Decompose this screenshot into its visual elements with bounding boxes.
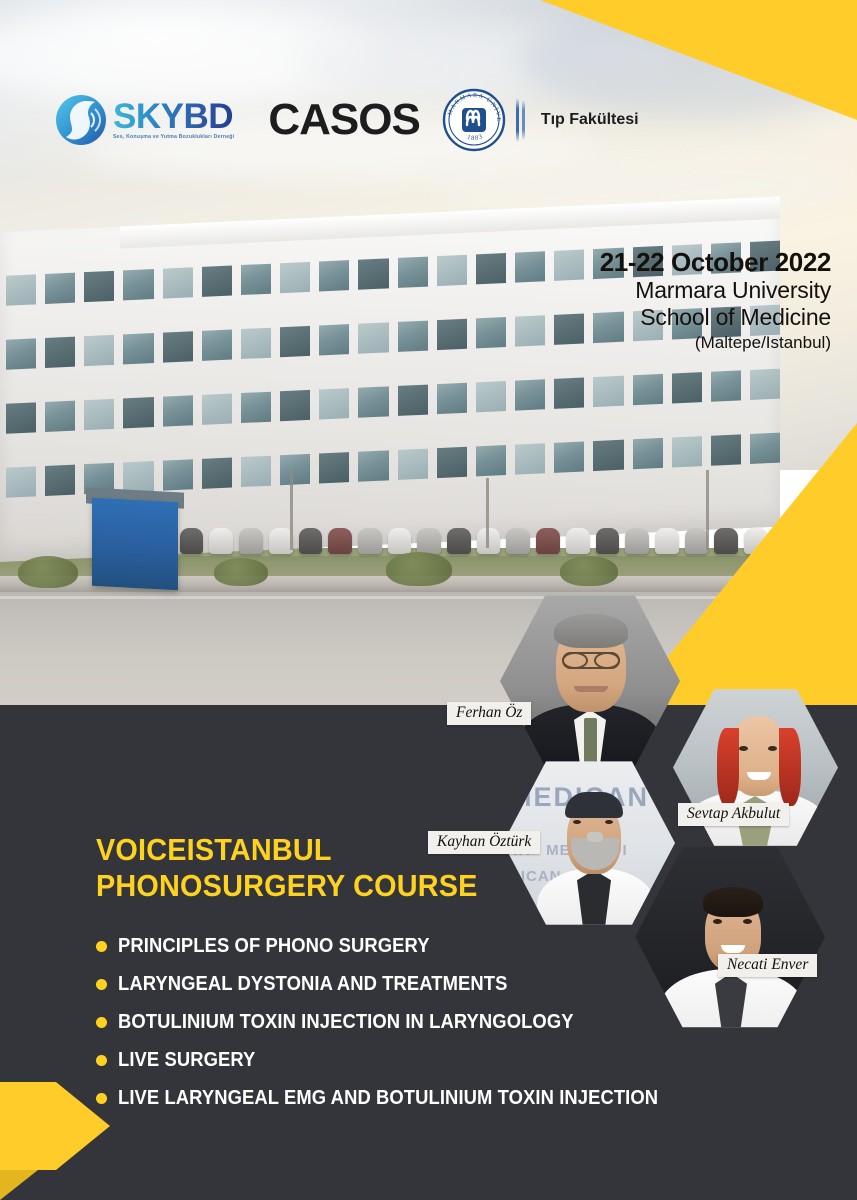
building-window [515,315,545,346]
course-topic-item: LIVE SURGERY [96,1041,705,1079]
building-window [123,269,153,300]
building-window [398,385,428,416]
building-window [163,395,193,426]
building-window [84,399,114,430]
course-topic-label: PRINCIPLES OF PHONO SURGERY [118,935,430,958]
parked-car [209,528,233,554]
window-row [0,369,780,434]
building-window [358,322,388,353]
course-topic-label: BOTULINIUM TOXIN INJECTION IN LARYNGOLOG… [118,1011,574,1034]
building-window [319,324,349,355]
faculty-label: Tıp Fakültesi [541,111,639,129]
building-window [241,456,271,487]
building-window [202,457,232,488]
event-venue-line1: Marmara University [600,277,831,304]
building-window [163,331,193,362]
bullet-dot-icon [96,941,107,952]
parked-car [596,528,620,554]
building-window [202,265,232,296]
course-title: VOICEISTANBUL PHONOSURGERY COURSE [96,832,506,904]
building-window [476,445,506,476]
building-window [163,267,193,298]
event-date: 21-22 October 2022 [600,248,831,277]
building-window [633,438,663,469]
building-window [202,329,232,360]
building-window [476,317,506,348]
building-window [593,376,623,407]
building-window [6,274,36,305]
bush [386,552,452,586]
building-window [358,258,388,289]
building-window [280,390,310,421]
event-venue-line2: School of Medicine [600,304,831,331]
sponsor-logo-bar: SKYBD Ses, Konuşma ve Yutma Bozuklukları… [55,88,639,152]
parked-car [536,528,560,554]
building-window [515,251,545,282]
parked-car [388,528,412,554]
parked-car [239,528,263,554]
building-window [515,379,545,410]
building-window [6,466,36,497]
building-window [45,273,75,304]
bush [214,558,268,586]
building-window [437,319,467,350]
building-window [554,313,584,344]
course-topic-item: LARYNGEAL DYSTONIA AND TREATMENTS [96,965,705,1003]
parked-car [328,528,352,554]
conference-poster: SKYBD Ses, Konuşma ve Yutma Bozuklukları… [0,0,857,1200]
building-window [711,434,741,465]
event-city: (Maltepe/Istanbul) [600,332,831,354]
course-topic-label: LIVE LARYNGEAL EMG AND BOTULINIUM TOXIN … [118,1087,658,1110]
building-window [476,253,506,284]
building-window [280,326,310,357]
building-window [554,377,584,408]
building-window [476,381,506,412]
skybd-association-subtitle: Ses, Konuşma ve Yutma Bozuklukları Derne… [113,135,234,140]
blue-kiosk [92,498,178,591]
building-window [750,433,780,464]
skybd-logo: SKYBD Ses, Konuşma ve Yutma Bozuklukları… [55,94,234,146]
light-pole [706,470,709,550]
building-window [280,262,310,293]
building-window [437,447,467,478]
building-window [319,452,349,483]
parked-car [655,528,679,554]
road-seam [0,596,857,599]
building-window [398,321,428,352]
building-window [123,461,153,492]
bush [744,550,814,586]
light-pole [290,470,293,550]
parked-car [685,528,709,554]
building-window [84,335,114,366]
building-window [593,440,623,471]
parked-car [358,528,382,554]
parked-car [180,528,204,554]
building-window [45,401,75,432]
parked-car [566,528,590,554]
building-window [633,374,663,405]
event-details: 21-22 October 2022 Marmara University Sc… [600,248,831,354]
bush [18,556,78,588]
building-window [672,372,702,403]
marmara-university-logo: MARMARA ÜNİVERSİTESİ 1883 Tıp Fakültesi [442,88,639,152]
building-window [672,436,702,467]
yellow-arrow-bottom-left [0,1082,190,1200]
parked-car [714,528,738,554]
building-window [45,465,75,496]
building-window [515,443,545,474]
parked-car [625,528,649,554]
building-window [6,402,36,433]
building-window [554,441,584,472]
course-topic-item: PRINCIPLES OF PHONO SURGERY [96,927,705,965]
building-window [84,271,114,302]
bullet-dot-icon [96,979,107,990]
skybd-wordmark: SKYBD [113,99,234,134]
skybd-mark-icon [55,94,107,146]
course-topic-label: LIVE SURGERY [118,1049,255,1072]
marmara-seal-icon: MARMARA ÜNİVERSİTESİ 1883 [442,88,506,152]
casos-logo: CASOS [268,95,419,145]
course-title-line1: VOICEISTANBUL [96,832,478,868]
course-topic-label: LARYNGEAL DYSTONIA AND TREATMENTS [118,973,507,996]
parked-car [506,528,530,554]
building-window [241,264,271,295]
parked-car [417,528,441,554]
bullet-dot-icon [96,1055,107,1066]
building-window [750,369,780,400]
parked-car [744,528,768,554]
parked-car [833,528,857,554]
building-window [241,328,271,359]
logo-divider [516,97,525,143]
building-window [123,333,153,364]
parked-car [447,528,471,554]
building-window [319,260,349,291]
building-window [711,370,741,401]
building-window [280,454,310,485]
bush [560,556,618,586]
building-window [398,257,428,288]
parked-car [269,528,293,554]
building-window [437,255,467,286]
building-window [358,450,388,481]
building-window [202,393,232,424]
building-window [358,386,388,417]
building-window [6,338,36,369]
building-window [398,449,428,480]
course-topic-item: BOTULINIUM TOXIN INJECTION IN LARYNGOLOG… [96,1003,705,1041]
building-window [163,459,193,490]
building-window [554,249,584,280]
building-window [437,383,467,414]
course-title-line2: PHONOSURGERY COURSE [96,868,478,904]
parked-car [803,528,827,554]
building-window [45,337,75,368]
building-window [241,392,271,423]
bullet-dot-icon [96,1017,107,1028]
parked-car [299,528,323,554]
light-pole [486,478,489,548]
building-window [123,397,153,428]
building-window [319,388,349,419]
